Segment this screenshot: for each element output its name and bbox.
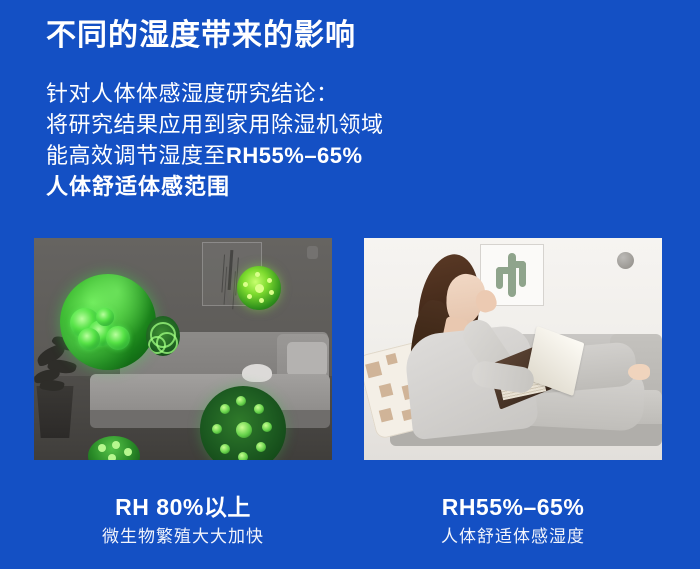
intro-line-1: 针对人体体感湿度研究结论： — [46, 78, 384, 109]
intro-line-3: 能高效调节湿度至RH55%–65% — [46, 140, 384, 171]
wall-knob — [307, 246, 318, 259]
panel-captions: RH 80%以上 微生物繁殖大大加快 RH55%–65% 人体舒适体感湿度 — [0, 492, 700, 564]
caption-comfort-humidity-title: RH55%–65% — [364, 492, 662, 522]
wall-speaker-icon — [617, 252, 634, 269]
sofa-cushion — [287, 342, 327, 376]
humidity-infographic-page: 不同的湿度带来的影响 针对人体体感湿度研究结论： 将研究结果应用到家用除湿机领域… — [0, 0, 700, 569]
intro-paragraph: 针对人体体感湿度研究结论： 将研究结果应用到家用除湿机领域 能高效调节湿度至RH… — [46, 78, 384, 202]
intro-line-4: 人体舒适体感范围 — [46, 171, 384, 202]
dim-room-scene — [34, 238, 332, 460]
caption-high-humidity: RH 80%以上 微生物繁殖大大加快 — [34, 492, 332, 550]
panel-comfort-humidity-photo — [364, 238, 662, 460]
caption-high-humidity-title: RH 80%以上 — [34, 492, 332, 522]
plant-pot — [34, 386, 76, 438]
caption-comfort-humidity: RH55%–65% 人体舒适体感湿度 — [364, 492, 662, 550]
bacteria-cluster-side-icon — [146, 316, 180, 356]
intro-line-2: 将研究结果应用到家用除湿机领域 — [46, 109, 384, 140]
bacteria-cluster-large-icon — [60, 274, 156, 370]
intro-line-3-emphasis: RH55%–65% — [226, 143, 363, 168]
panel-high-humidity-photo — [34, 238, 332, 460]
woman-foot — [628, 364, 650, 380]
caption-comfort-humidity-subtitle: 人体舒适体感湿度 — [364, 524, 662, 550]
intro-line-3-prefix: 能高效调节湿度至 — [46, 143, 226, 168]
page-title: 不同的湿度带来的影响 — [46, 18, 356, 54]
sofa-throw — [242, 364, 272, 382]
bacteria-cluster-top-icon — [237, 266, 281, 310]
caption-high-humidity-subtitle: 微生物繁殖大大加快 — [34, 524, 332, 550]
bright-room-scene — [364, 238, 662, 460]
comparison-panels — [0, 238, 700, 462]
